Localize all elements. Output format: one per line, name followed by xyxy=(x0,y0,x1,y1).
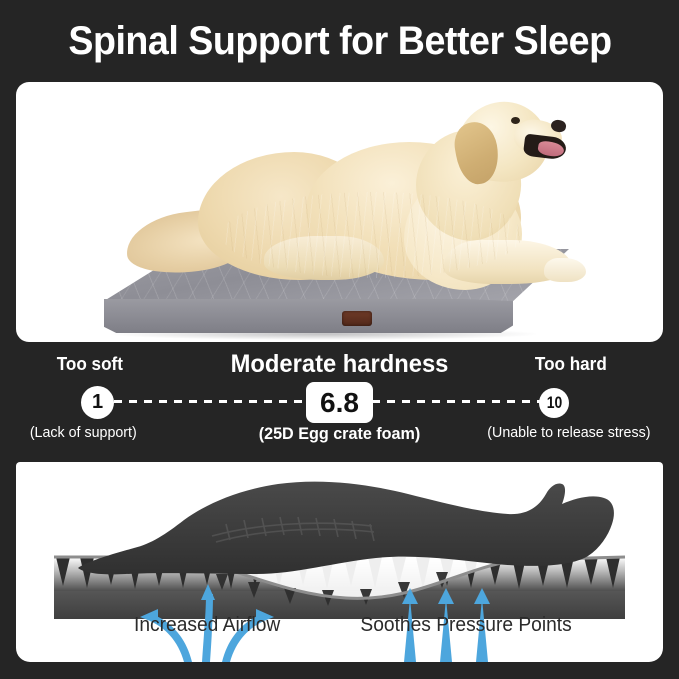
dog-front-paw xyxy=(544,258,586,282)
scale-node-current-value: 6.8 xyxy=(320,387,359,419)
diagram-labels: Increased Airflow Soothes Pressure Point… xyxy=(16,614,663,648)
scale-node-max: 10 xyxy=(539,388,569,418)
scale-dashed-line-right xyxy=(372,400,542,403)
cross-section-diagram-panel: Increased Airflow Soothes Pressure Point… xyxy=(16,462,663,662)
scale-node-current: 6.8 xyxy=(306,382,373,423)
hardness-scale-track: 1 6.8 10 xyxy=(0,384,679,418)
page-title: Spinal Support for Better Sleep xyxy=(68,19,611,64)
caption-unable-to-release-stress: (Unable to release stress) xyxy=(488,424,651,441)
scale-node-min: 1 xyxy=(81,386,114,419)
dog-photo-subject xyxy=(126,100,566,300)
title-bar: Spinal Support for Better Sleep xyxy=(0,0,679,82)
scale-dashed-line-left xyxy=(114,400,306,403)
brand-leather-tag-icon xyxy=(342,311,372,326)
label-soothes-pressure-points: Soothes Pressure Points xyxy=(360,614,571,637)
hardness-scale-captions: (Lack of support) (25D Egg crate foam) (… xyxy=(0,424,679,448)
scale-node-min-value: 1 xyxy=(92,391,103,414)
dog-fur-texture xyxy=(222,192,522,278)
dog-eye xyxy=(511,117,520,124)
product-photo xyxy=(16,82,663,342)
hardness-scale: Too soft Moderate hardness Too hard 1 6.… xyxy=(0,346,679,456)
product-photo-panel xyxy=(16,82,663,342)
dog-silhouette xyxy=(78,482,614,575)
label-increased-airflow: Increased Airflow xyxy=(134,614,280,637)
hardness-label-too-hard: Too hard xyxy=(535,354,607,375)
scale-node-max-value: 10 xyxy=(546,393,562,413)
bed-side-panel xyxy=(104,299,513,333)
hardness-scale-headings: Too soft Moderate hardness Too hard xyxy=(0,354,679,380)
